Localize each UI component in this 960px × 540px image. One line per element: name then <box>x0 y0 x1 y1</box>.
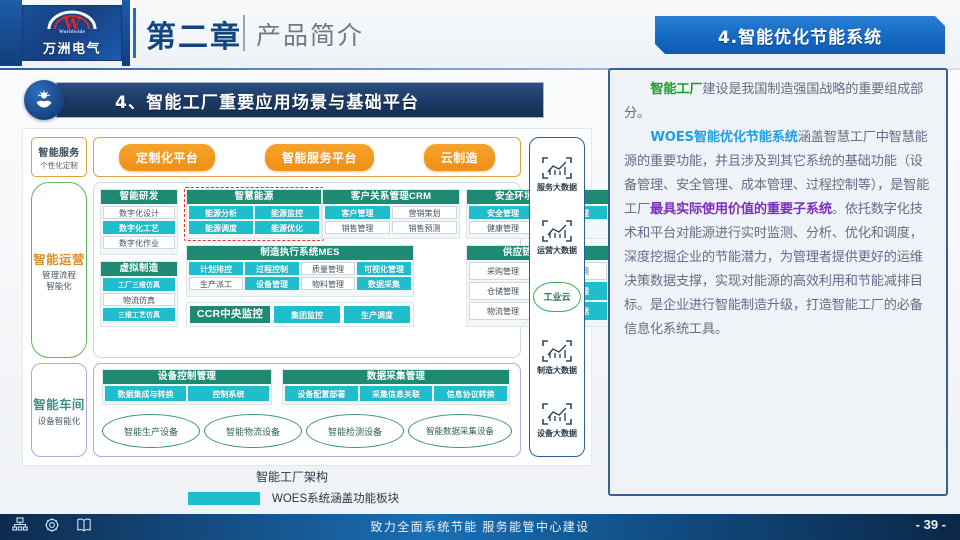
label-smart-workshop-title: 智能车间 <box>33 394 85 413</box>
group-smart-energy-header: 智慧能源 <box>187 190 321 204</box>
group-data-acquisition: 数据采集管理 设备配置部署 采集信息关联 信息协议转换 <box>282 369 510 405</box>
chart-bigdata-icon <box>540 218 574 244</box>
device-ellipse-row: 智能生产设备 智能物流设备 智能检测设备 智能数据采集设备 <box>102 414 512 448</box>
smart-factory-architecture-diagram: 智能服务 个性化定制 智能运营 管理流程 智能化 智能车间 设备智能化 定制化平… <box>22 128 592 466</box>
legend-label: WOES系统涵盖功能板块 <box>272 490 399 506</box>
group-rd-header: 智能研发 <box>101 190 177 204</box>
right-panel-title-text: 4.智能优化节能系统 <box>718 23 882 48</box>
emphasis-most-valuable: 最具实际使用价值的重要子系统 <box>650 202 832 217</box>
workshop-layer-area: 设备控制管理 数据集成与转换 控制系统 数据采集管理 设备配置部署 采集信息关联… <box>93 363 521 457</box>
cell-crm-0[interactable]: 客户管理 <box>325 206 390 219</box>
diagram-caption: 智能工厂架构 <box>0 468 592 485</box>
section-title-bar: 4、智能工厂重要应用场景与基础平台 <box>56 82 544 118</box>
cell-mes-5[interactable]: 设备管理 <box>245 277 299 290</box>
label-smart-operation-sub: 管理流程 智能化 <box>42 270 76 291</box>
chapter-title: 第二章 <box>146 12 242 56</box>
cell-da-0[interactable]: 设备配置部署 <box>285 386 358 401</box>
cell-qhse-0[interactable]: 安全管理 <box>469 206 537 219</box>
group-ccr-header: CCR中央监控 <box>190 306 270 323</box>
cell-se-2[interactable]: 能源调度 <box>189 221 253 234</box>
label-smart-operation: 智能运营 管理流程 智能化 <box>31 182 87 358</box>
rail-item-operation-bigdata[interactable]: 运营大数据 <box>537 218 577 256</box>
emphasis-woes-system: WOES智能优化节能系统 <box>650 130 797 145</box>
cell-se-0[interactable]: 能源分析 <box>189 206 253 219</box>
cell-crm-2[interactable]: 销售管理 <box>325 221 390 234</box>
cell-scm-4[interactable]: 物流管理 <box>469 302 537 320</box>
device-ellipse-data-collection[interactable]: 智能数据采集设备 <box>408 414 512 448</box>
cell-se-1[interactable]: 能源监控 <box>255 206 319 219</box>
operation-layer-area: 智能研发 数字化设计 数字化工艺 数字化作业 虚拟制造 工厂三维仿真 物流仿真 … <box>93 182 521 358</box>
legend-swatch <box>188 492 260 505</box>
rail-item-service-bigdata[interactable]: 服务大数据 <box>537 155 577 193</box>
logo-right-bar <box>122 0 130 66</box>
label-smart-workshop: 智能车间 设备智能化 <box>31 363 87 457</box>
group-virtual-mfg: 虚拟制造 工厂三维仿真 物流仿真 三维工艺仿真 <box>100 261 178 327</box>
cell-dc-1[interactable]: 控制系统 <box>188 386 269 401</box>
rail-label-operation-bigdata: 运营大数据 <box>537 245 577 256</box>
cell-scm-2[interactable]: 仓储管理 <box>469 282 537 300</box>
cell-mes-7[interactable]: 数据采集 <box>357 277 411 290</box>
rail-label-industrial-cloud: 工业云 <box>543 290 570 303</box>
right-panel-paragraph-2: WOES智能优化节能系统涵盖智慧工厂中智慧能源的重要功能，并且涉及到其它系统的基… <box>624 126 934 342</box>
cell-vm-1[interactable]: 物流仿真 <box>103 293 175 306</box>
right-panel-paragraph-1: 智能工厂建设是我国制造强国战略的重要组成部分。 <box>624 78 934 126</box>
footer-page-number: - 39 - <box>916 517 946 532</box>
chapter-subtitle: 产品简介 <box>256 16 364 52</box>
rail-label-manufacturing-bigdata: 制造大数据 <box>537 365 577 376</box>
cell-da-2[interactable]: 信息协议转换 <box>434 386 507 401</box>
logo-left-bar <box>0 0 22 66</box>
chapter-separator <box>243 15 245 51</box>
section-title-text: 4、智能工厂重要应用场景与基础平台 <box>115 88 419 113</box>
label-smart-service-sub: 个性化定制 <box>40 160 78 171</box>
bigdata-rail: 服务大数据 运营大数据 工业云 制造大数据 <box>529 137 585 457</box>
diagram-left-labels: 智能服务 个性化定制 智能运营 管理流程 智能化 智能车间 设备智能化 <box>29 135 89 461</box>
cell-mes-4[interactable]: 生产派工 <box>189 277 243 290</box>
right-panel-body: 智能工厂建设是我国制造强国战略的重要组成部分。 WOES智能优化节能系统涵盖智慧… <box>608 68 948 496</box>
platform-pill-cloud[interactable]: 云制造 <box>424 144 496 171</box>
svg-text:W: W <box>63 15 82 31</box>
cell-mes-0[interactable]: 计划排控 <box>189 262 243 275</box>
group-mes: 制造执行系统MES 计划排控 过程控制 质量管理 可视化管理 生产派工 设备管理… <box>186 245 414 297</box>
emphasis-smart-factory: 智能工厂 <box>650 82 702 97</box>
footer-slogan: 致力全面系统节能 服务能管中心建设 <box>0 518 960 535</box>
cell-mes-2[interactable]: 质量管理 <box>301 262 355 275</box>
label-smart-service-title: 智能服务 <box>38 144 79 159</box>
section-title-block: 4、智能工厂重要应用场景与基础平台 <box>24 80 544 120</box>
rail-label-equipment-bigdata: 设备大数据 <box>537 428 577 439</box>
platform-pill-service[interactable]: 智能服务平台 <box>265 144 374 171</box>
cell-da-1[interactable]: 采集信息关联 <box>360 386 433 401</box>
rail-item-manufacturing-bigdata[interactable]: 制造大数据 <box>537 338 577 376</box>
rail-item-equipment-bigdata[interactable]: 设备大数据 <box>537 401 577 439</box>
group-mes-header: 制造执行系统MES <box>187 246 413 260</box>
chart-bigdata-icon <box>540 401 574 427</box>
header-divider <box>133 8 136 58</box>
diagram-caption-block: 智能工厂架构 WOES系统涵盖功能板块 <box>22 468 592 506</box>
cell-qhse-2[interactable]: 健康管理 <box>469 221 537 234</box>
group-device-control: 设备控制管理 数据集成与转换 控制系统 <box>102 369 272 405</box>
platform-row: 定制化平台 智能服务平台 云制造 <box>93 137 521 177</box>
industrial-cloud-icon[interactable]: 工业云 <box>533 282 581 312</box>
gear-hand-icon <box>24 80 64 120</box>
logo-brand-cn: 万洲电气 <box>43 38 101 57</box>
device-ellipse-logistics[interactable]: 智能物流设备 <box>204 414 302 448</box>
company-logo: W Worldwide 万洲电气 <box>22 5 122 61</box>
group-data-acquisition-header: 数据采集管理 <box>283 370 509 384</box>
logo-mark-icon: W <box>46 9 98 31</box>
cell-mes-6[interactable]: 物料管理 <box>301 277 355 290</box>
cell-vm-2[interactable]: 三维工艺仿真 <box>103 308 175 321</box>
group-virtual-mfg-header: 虚拟制造 <box>101 262 177 276</box>
cell-dc-0[interactable]: 数据集成与转换 <box>105 386 186 401</box>
rail-label-service-bigdata: 服务大数据 <box>537 182 577 193</box>
device-ellipse-inspection[interactable]: 智能检测设备 <box>306 414 404 448</box>
cell-mes-3[interactable]: 可视化管理 <box>357 262 411 275</box>
paragraph-2-part-2: 。依托数字化技术和平台对能源进行实时监测、分析、优化和调度，深度挖掘企业的节能潜… <box>624 202 923 337</box>
cell-rd-0[interactable]: 数字化设计 <box>103 206 175 219</box>
diagram-legend: WOES系统涵盖功能板块 <box>188 490 592 506</box>
cell-ccr-1[interactable]: 生产调度 <box>344 306 410 323</box>
cell-crm-3[interactable]: 销售预测 <box>392 221 457 234</box>
group-device-control-header: 设备控制管理 <box>103 370 271 384</box>
chart-bigdata-icon <box>540 338 574 364</box>
group-ccr: CCR中央监控 集团监控 生产调度 <box>186 302 414 327</box>
cell-crm-1[interactable]: 营销策划 <box>392 206 457 219</box>
group-smart-energy: 智慧能源 能源分析 能源监控 能源调度 能源优化 <box>186 189 322 239</box>
cell-ccr-0[interactable]: 集团监控 <box>274 306 340 323</box>
group-crm-header: 客户关系管理CRM <box>323 190 459 204</box>
label-smart-operation-title: 智能运营 <box>33 249 85 268</box>
cell-mes-1[interactable]: 过程控制 <box>245 262 299 275</box>
group-crm: 客户关系管理CRM 客户管理 营销策划 销售管理 销售预测 <box>322 189 460 239</box>
device-ellipse-production[interactable]: 智能生产设备 <box>102 414 200 448</box>
cell-vm-0[interactable]: 工厂三维仿真 <box>103 278 175 291</box>
right-panel-title: 4.智能优化节能系统 <box>655 16 945 54</box>
cell-se-3[interactable]: 能源优化 <box>255 221 319 234</box>
chart-bigdata-icon <box>540 155 574 181</box>
cell-rd-2[interactable]: 数字化作业 <box>103 236 175 249</box>
cell-scm-0[interactable]: 采购管理 <box>469 262 537 280</box>
label-smart-service: 智能服务 个性化定制 <box>31 137 87 177</box>
label-smart-workshop-sub: 设备智能化 <box>38 415 81 427</box>
platform-pill-custom[interactable]: 定制化平台 <box>119 144 216 171</box>
group-rd: 智能研发 数字化设计 数字化工艺 数字化作业 <box>100 189 178 255</box>
cell-rd-1[interactable]: 数字化工艺 <box>103 221 175 234</box>
